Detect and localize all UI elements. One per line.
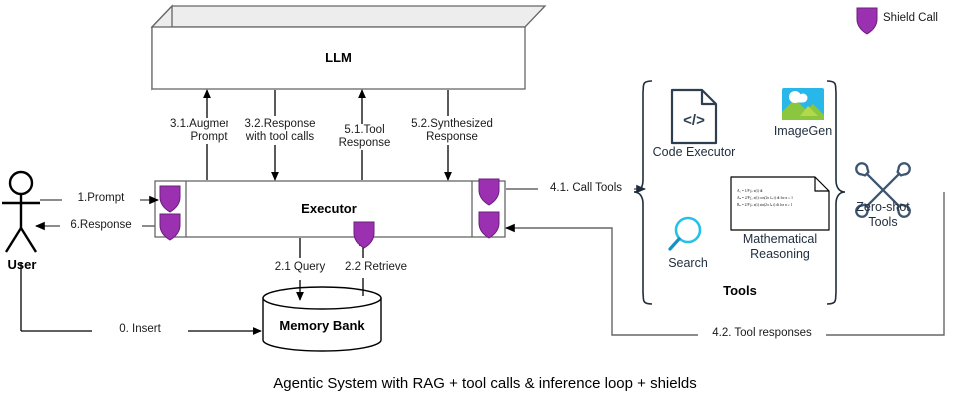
flow-label-response-with-tool-calls: 3.2.Response with tool calls: [228, 118, 332, 144]
tools-group-label: Tools: [700, 283, 780, 298]
tool-label-code-executor: Code Executor: [644, 145, 744, 160]
user-stick-figure: [2, 172, 40, 252]
math-formula-line: A₀ = 1/P ∫ₚ x(t) dt: [737, 188, 823, 195]
diagram-caption: Agentic System with RAG + tool calls & i…: [0, 375, 970, 392]
image-gen-icon: [782, 88, 824, 120]
magnifier-icon: [670, 218, 700, 249]
tool-label-mathematical-reasoning: Mathematical Reasoning: [725, 232, 835, 262]
user-label: User: [0, 257, 44, 272]
flow-label-tool-response: 5.1.Tool Response: [330, 124, 399, 150]
llm-3d-shape: [152, 6, 545, 89]
svg-text:</>: </>: [683, 112, 705, 129]
flow-label-insert: 0. Insert: [92, 323, 188, 336]
tool-label-imagegen: ImageGen: [763, 124, 843, 139]
legend-shield-call-label: Shield Call: [883, 12, 938, 24]
flow-label-retrieve: 2.2 Retrieve: [333, 261, 419, 274]
tools-right-brace: [827, 81, 845, 304]
flow-label-query: 2.1 Query: [263, 261, 337, 274]
llm-label: LLM: [152, 50, 525, 65]
flow-label-synthesized-response: 5.2.Synthesized Response: [400, 118, 504, 144]
math-formula-text: A₀ = 1/P ∫ₚ x(t) dt Aₙ = 2/P ∫₀ x(t) cos…: [737, 188, 823, 209]
tool-label-zero-shot-tools: Zero-shot Tools: [845, 200, 921, 230]
math-formula-line: Bₙ = 2/P ∫ₚ x(t) sin(2π fₙ t) dt for n ≥…: [737, 202, 823, 209]
flow-label-tool-responses: 4.2. Tool responses: [698, 327, 826, 340]
flow-label-prompt: 1.Prompt: [62, 192, 140, 205]
shield-icon-legend: [857, 8, 877, 34]
agentic-system-diagram: </>: [0, 0, 970, 411]
memory-bank-label: Memory Bank: [263, 318, 381, 333]
executor-label: Executor: [186, 201, 472, 216]
tool-label-search: Search: [657, 256, 719, 271]
code-document-icon: </>: [672, 90, 716, 143]
math-formula-line: Aₙ = 2/P ∫₀ x(t) cos(2π fₙ t) dt for n ≥…: [737, 195, 823, 202]
shield-icon: [354, 222, 374, 248]
flow-label-response: 6.Response: [60, 219, 142, 232]
flow-label-call-tools: 4.1. Call Tools: [538, 182, 634, 195]
tools-left-brace: [634, 81, 652, 304]
